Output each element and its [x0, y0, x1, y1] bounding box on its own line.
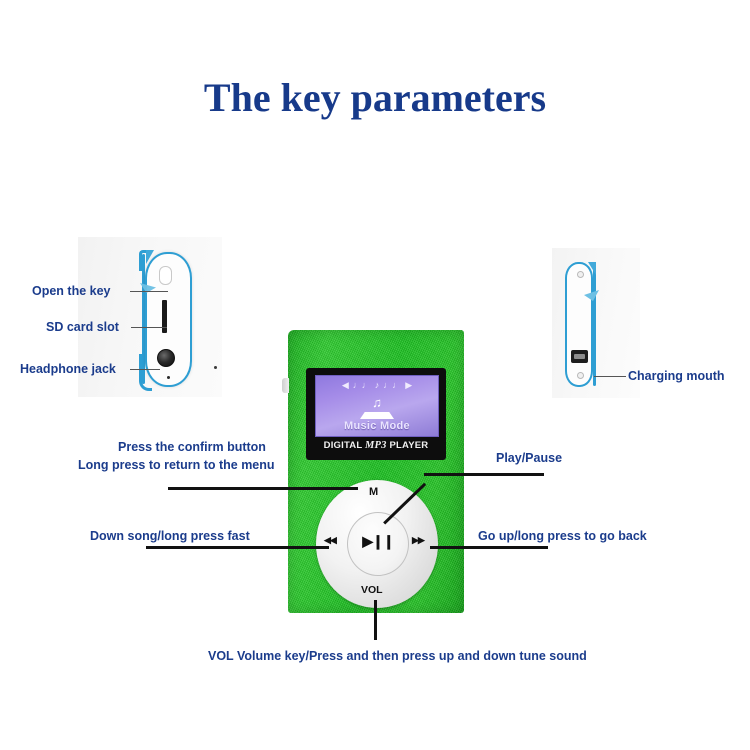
leader-line-open-the-key [130, 291, 168, 292]
leader-line-down-song [146, 546, 329, 549]
headphone-jack-icon[interactable] [157, 349, 175, 367]
mic-dot-icon [167, 376, 170, 379]
lcd-icon-prev: ◀ [342, 381, 349, 390]
leader-line-volume-key [374, 600, 377, 640]
control-wheel[interactable]: M ◀◀ ▶▶ VOL ▶❙❙ [316, 480, 438, 608]
screw-dot-icon-top [577, 271, 584, 278]
leader-line-go-up [430, 546, 548, 549]
menu-button[interactable]: M [369, 486, 378, 498]
leader-line-charging-mouth [594, 376, 626, 377]
label-headphone-jack: Headphone jack [20, 361, 116, 377]
annotation-confirm-button-line1: Press the confirm button [118, 439, 266, 455]
sd-card-slot-icon[interactable] [162, 300, 167, 333]
annotation-confirm-button-line2: Long press to return to the menu [78, 457, 275, 473]
play-pause-icon: ▶❙❙ [348, 533, 408, 550]
screen-bezel: ◀ ♩♩ ♪ ♩♩ ▶ ♫ Music Mode DIGITAL MP3 PLA… [306, 368, 446, 460]
lcd-music-note-icon: ♫ [316, 396, 438, 409]
leader-line-headphone-jack [130, 369, 160, 370]
right-belt-clip-icon [590, 262, 602, 388]
leader-line-confirm-button [168, 487, 358, 490]
stray-dot-icon [214, 366, 217, 369]
brand-mp3: MP3 [365, 440, 387, 451]
screw-dot-icon-bottom [577, 372, 584, 379]
annotation-volume-key: VOL Volume key/Press and then press up a… [208, 648, 587, 664]
brand-suffix: PLAYER [387, 440, 429, 451]
usb-port-icon[interactable] [571, 350, 588, 363]
lcd-icon-note-left: ♩♩ [353, 381, 371, 390]
lcd-screen: ◀ ♩♩ ♪ ♩♩ ▶ ♫ Music Mode [315, 375, 439, 437]
leader-line-sd-card-slot [131, 327, 167, 328]
lcd-pedestal-icon [360, 412, 394, 419]
label-open-the-key: Open the key [32, 283, 111, 299]
center-play-pause-button[interactable]: ▶❙❙ [347, 512, 409, 576]
annotation-go-up: Go up/long press to go back [478, 528, 647, 544]
label-charging-mouth: Charging mouth [628, 368, 725, 384]
mp3-player-body: ◀ ♩♩ ♪ ♩♩ ▶ ♫ Music Mode DIGITAL MP3 PLA… [288, 330, 464, 613]
volume-button[interactable]: VOL [361, 584, 383, 596]
page-title: The key parameters [0, 74, 750, 121]
brand-prefix: DIGITAL [324, 440, 365, 451]
label-sd-card-slot: SD card slot [46, 319, 119, 335]
lcd-icon-next: ▶ [405, 381, 412, 390]
open-key-button-icon[interactable] [159, 266, 172, 285]
annotation-play-pause: Play/Pause [496, 450, 562, 466]
clip-bar [593, 264, 596, 386]
right-side-device-body [565, 262, 593, 387]
next-track-button[interactable]: ▶▶ [412, 535, 424, 546]
lcd-icon-note-right: ♩♩ [383, 381, 401, 390]
left-side-device-body [145, 252, 192, 387]
brand-text: DIGITAL MP3 PLAYER [306, 440, 446, 451]
annotation-down-song: Down song/long press fast [90, 528, 250, 544]
previous-track-button[interactable]: ◀◀ [324, 535, 336, 546]
lcd-icon-note-center: ♪ [375, 381, 380, 390]
leader-line-play-pause [424, 473, 544, 476]
lcd-mode-text: Music Mode [316, 420, 438, 432]
lcd-top-icon-row: ◀ ♩♩ ♪ ♩♩ ▶ [316, 379, 438, 392]
power-side-button-icon[interactable] [282, 378, 289, 393]
diagram-canvas: The key parameters Open the key SD card … [0, 0, 750, 750]
